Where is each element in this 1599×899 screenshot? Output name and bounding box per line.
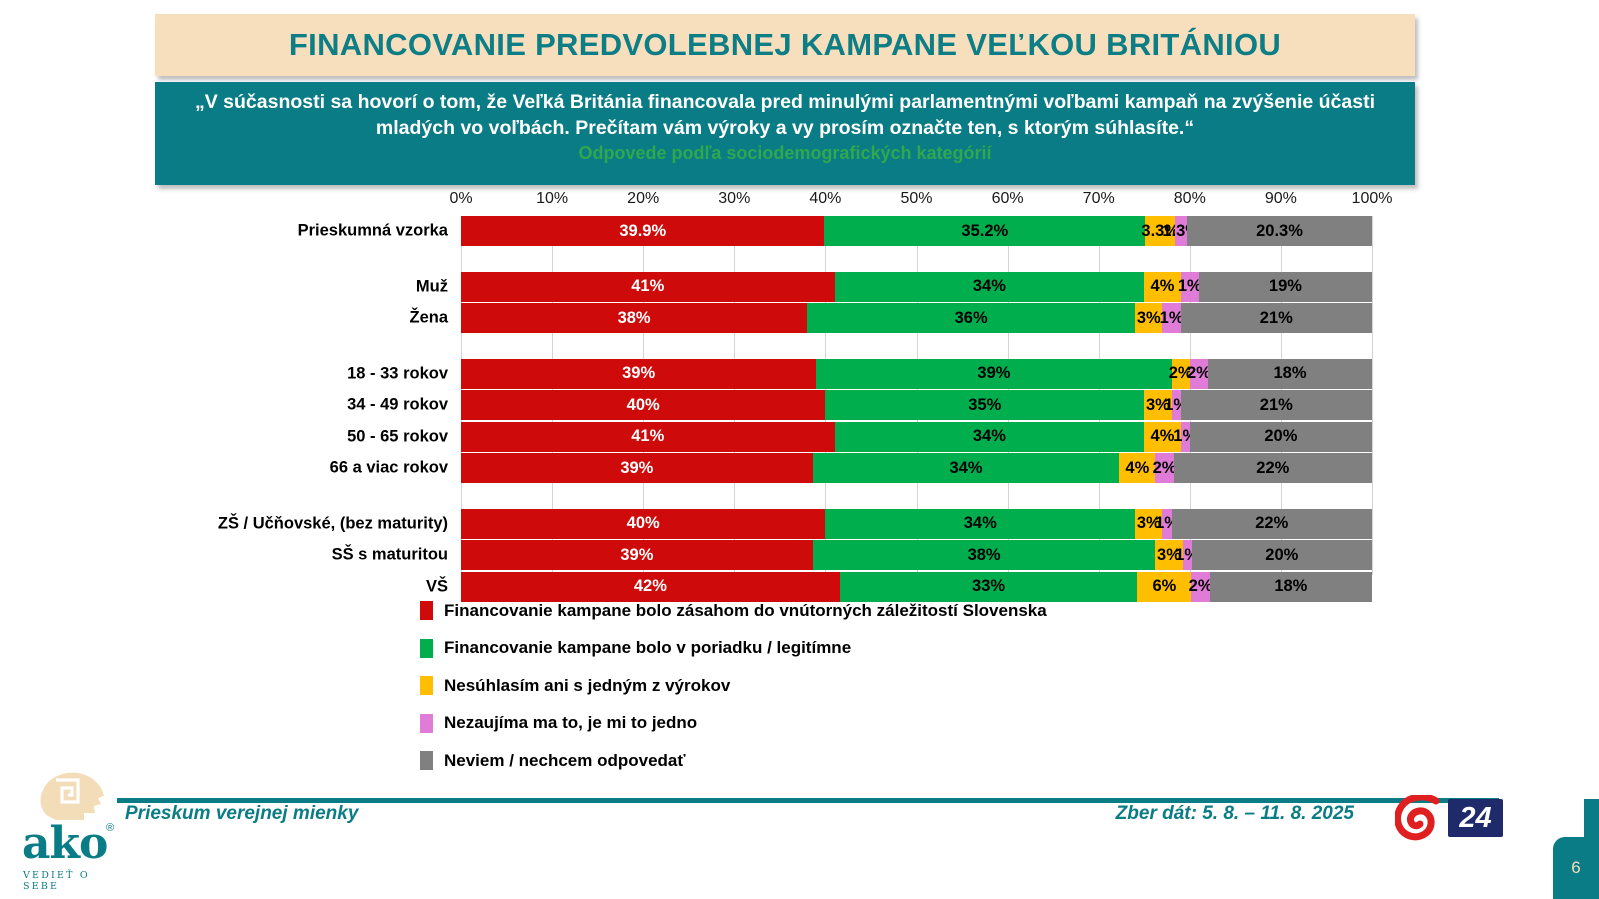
x-axis-tick-5: 50% — [900, 190, 932, 208]
registered-icon: ® — [106, 822, 114, 834]
footer-right-text: Zber dát: 5. 8. – 11. 8. 2025 — [1116, 803, 1354, 825]
bar-segment[interactable]: 1% — [1162, 303, 1180, 333]
legend-label: Nesúhlasím ani s jedným z výrokov — [444, 676, 730, 696]
legend-item[interactable]: Nezaujíma ma to, je mi to jedno — [420, 705, 1400, 743]
bar-segment-label: 20% — [1264, 427, 1297, 446]
bar-track: 40%35%3%1%21% — [461, 390, 1372, 420]
bar-segment-label: 18% — [1273, 364, 1306, 383]
bar-segment[interactable]: 34% — [835, 272, 1145, 302]
bar-segment-label: 3% — [1137, 309, 1161, 328]
x-axis-tick-1: 10% — [536, 190, 568, 208]
bar-segment-label: 22% — [1256, 459, 1289, 478]
row-label: SŠ s maturitou — [332, 546, 460, 565]
bar-segment[interactable]: 38% — [813, 540, 1156, 570]
bar-segment[interactable]: 40% — [461, 509, 825, 539]
chart-row: Muž41%34%4%1%19% — [0, 272, 1599, 302]
row-label: Prieskumná vzorka — [298, 222, 460, 241]
bar-segment[interactable]: 34% — [813, 453, 1120, 483]
tv24-number: 24 — [1448, 799, 1503, 837]
bar-segment-label: 4% — [1151, 277, 1175, 296]
bar-segment-label: 39% — [620, 459, 653, 478]
bar-segment[interactable]: 22% — [1174, 453, 1372, 483]
bar-segment[interactable]: 39% — [461, 359, 816, 389]
slide-root: FINANCOVANIE PREDVOLEBNEJ KAMPANE VEĽKOU… — [0, 0, 1599, 899]
chart-row: Prieskumná vzorka39.9%35.2%3.3%1.3%20.3% — [0, 216, 1599, 246]
bar-segment[interactable]: 2% — [1155, 453, 1173, 483]
bar-segment-label: 35% — [968, 396, 1001, 415]
row-label: Muž — [416, 277, 460, 296]
chart-row: SŠ s maturitou39%38%3%1%20% — [0, 540, 1599, 570]
bar-segment[interactable]: 36% — [807, 303, 1135, 333]
x-axis-tick-8: 80% — [1174, 190, 1206, 208]
bar-track: 39%39%2%2%18% — [461, 359, 1372, 389]
x-axis-ticks: 0%10%20%30%40%50%60%70%80%90%100% — [0, 190, 1599, 216]
bar-segment-label: 38% — [968, 546, 1001, 565]
ako-tagline: VEDIEŤ O SEBE — [23, 870, 128, 892]
bar-segment[interactable]: 1% — [1181, 272, 1199, 302]
bar-segment-label: 34% — [949, 459, 982, 478]
bar-segment-label: 38% — [618, 309, 651, 328]
question-text: „V súčasnosti sa hovorí o tom, že Veľká … — [179, 90, 1391, 142]
bar-segment[interactable]: 20.3% — [1187, 216, 1372, 246]
bar-segment[interactable]: 3% — [1135, 303, 1162, 333]
bar-segment-label: 40% — [627, 514, 660, 533]
chart-row: ZŠ / Učňovské, (bez maturity)40%34%3%1%2… — [0, 509, 1599, 539]
row-label: ZŠ / Učňovské, (bez maturity) — [218, 514, 460, 533]
bar-segment-label: 39% — [622, 364, 655, 383]
bar-segment[interactable]: 39.9% — [461, 216, 824, 246]
bar-segment-label: 39.9% — [619, 222, 666, 241]
bar-segment[interactable]: 39% — [461, 540, 813, 570]
legend-item[interactable]: Financovanie kampane bolo v poriadku / l… — [420, 630, 1400, 668]
bar-segment[interactable]: 39% — [816, 359, 1171, 389]
x-axis-tick-6: 60% — [992, 190, 1024, 208]
bar-segment-label: 34% — [973, 277, 1006, 296]
chart-plot-area: Prieskumná vzorka39.9%35.2%3.3%1.3%20.3%… — [0, 216, 1599, 575]
bar-segment[interactable]: 41% — [461, 422, 835, 452]
row-label: 34 - 49 rokov — [347, 396, 460, 415]
bar-segment[interactable]: 4% — [1119, 453, 1155, 483]
bar-segment[interactable]: 1% — [1172, 390, 1181, 420]
ako-logo: ako ® VEDIEŤ O SEBE — [18, 766, 128, 886]
legend-item[interactable]: Financovanie kampane bolo zásahom do vnú… — [420, 592, 1400, 630]
legend-item[interactable]: Nesúhlasím ani s jedným z výrokov — [420, 667, 1400, 705]
bar-segment-label: 4% — [1125, 459, 1149, 478]
bar-segment-label: 20% — [1265, 546, 1298, 565]
bar-segment-label: 36% — [955, 309, 988, 328]
legend-label: Financovanie kampane bolo zásahom do vnú… — [444, 601, 1047, 621]
legend-label: Nezaujíma ma to, je mi to jedno — [444, 713, 697, 733]
tv24-logo: 24 — [1395, 795, 1505, 841]
legend-swatch-icon — [420, 751, 433, 770]
bar-segment-label: 39% — [620, 546, 653, 565]
bar-segment[interactable]: 40% — [461, 390, 825, 420]
bar-track: 41%34%4%1%20% — [461, 422, 1372, 452]
row-label: Žena — [409, 309, 460, 328]
bar-segment-label: 39% — [977, 364, 1010, 383]
stacked-bar-chart: 0%10%20%30%40%50%60%70%80%90%100% Priesk… — [0, 190, 1599, 575]
row-label: 66 a viac rokov — [330, 459, 460, 478]
bar-track: 40%34%3%1%22% — [461, 509, 1372, 539]
bar-segment[interactable]: 4% — [1144, 272, 1180, 302]
bar-segment-label: 19% — [1269, 277, 1302, 296]
x-axis-tick-0: 0% — [449, 190, 472, 208]
ako-wordmark: ako — [22, 818, 107, 869]
bar-segment-label: 21% — [1260, 396, 1293, 415]
bar-segment[interactable]: 2% — [1190, 359, 1208, 389]
bar-segment-label: 41% — [631, 277, 664, 296]
bar-segment[interactable]: 20% — [1190, 422, 1372, 452]
bar-track: 39%34%4%2%22% — [461, 453, 1372, 483]
legend-swatch-icon — [420, 601, 433, 620]
bar-segment[interactable]: 22% — [1172, 509, 1372, 539]
bar-segment-label: 22% — [1255, 514, 1288, 533]
legend-swatch-icon — [420, 714, 433, 733]
bar-segment-label: 34% — [964, 514, 997, 533]
chart-legend: Financovanie kampane bolo zásahom do vnú… — [420, 592, 1400, 780]
slide-title-bar: FINANCOVANIE PREDVOLEBNEJ KAMPANE VEĽKOU… — [155, 14, 1415, 76]
page-badge-strip — [1584, 799, 1599, 837]
bar-segment[interactable]: 1.3% — [1175, 216, 1187, 246]
bar-segment[interactable]: 20% — [1192, 540, 1372, 570]
bar-segment[interactable]: 1% — [1183, 540, 1192, 570]
bar-segment[interactable]: 18% — [1208, 359, 1372, 389]
legend-swatch-icon — [420, 639, 433, 658]
legend-swatch-icon — [420, 676, 433, 695]
bar-segment[interactable]: 1% — [1162, 509, 1171, 539]
head-spiral-icon — [18, 766, 128, 826]
row-label: 18 - 33 rokov — [347, 364, 460, 383]
chart-row: 50 - 65 rokov41%34%4%1%20% — [0, 422, 1599, 452]
x-axis-tick-7: 70% — [1083, 190, 1115, 208]
row-label: 50 - 65 rokov — [347, 427, 460, 446]
x-axis-tick-2: 20% — [627, 190, 659, 208]
legend-label: Financovanie kampane bolo v poriadku / l… — [444, 638, 851, 658]
bar-segment[interactable]: 38% — [461, 303, 807, 333]
bar-track: 39%38%3%1%20% — [461, 540, 1372, 570]
bar-segment[interactable]: 34% — [835, 422, 1145, 452]
bar-track: 41%34%4%1%19% — [461, 272, 1372, 302]
bar-track: 38%36%3%1%21% — [461, 303, 1372, 333]
chart-row: Žena38%36%3%1%21% — [0, 303, 1599, 333]
chart-row: 66 a viac rokov39%34%4%2%22% — [0, 453, 1599, 483]
bar-segment[interactable]: 41% — [461, 272, 835, 302]
bar-segment-label: 41% — [631, 427, 664, 446]
x-axis-tick-9: 90% — [1265, 190, 1297, 208]
bar-segment-label: 40% — [627, 396, 660, 415]
legend-item[interactable]: Neviem / nechcem odpovedať — [420, 742, 1400, 780]
page-title: FINANCOVANIE PREDVOLEBNEJ KAMPANE VEĽKOU… — [289, 27, 1281, 63]
bar-segment[interactable]: 35.2% — [824, 216, 1145, 246]
bar-track: 39.9%35.2%3.3%1.3%20.3% — [461, 216, 1372, 246]
bar-segment[interactable]: 21% — [1181, 390, 1372, 420]
bar-segment[interactable]: 19% — [1199, 272, 1372, 302]
x-axis-tick-10: 100% — [1352, 190, 1393, 208]
spiral-icon — [1395, 795, 1445, 841]
bar-segment[interactable]: 39% — [461, 453, 813, 483]
bar-segment-label: 21% — [1260, 309, 1293, 328]
bar-segment[interactable]: 21% — [1181, 303, 1372, 333]
x-axis-tick-3: 30% — [718, 190, 750, 208]
bar-segment[interactable]: 35% — [825, 390, 1144, 420]
chart-row: 34 - 49 rokov40%35%3%1%21% — [0, 390, 1599, 420]
footer-left-text: Prieskum verejnej mienky — [125, 803, 358, 825]
chart-row: 18 - 33 rokov39%39%2%2%18% — [0, 359, 1599, 389]
bar-segment-label: 4% — [1151, 427, 1175, 446]
bar-segment-label: 20.3% — [1256, 222, 1303, 241]
question-band: „V súčasnosti sa hovorí o tom, že Veľká … — [155, 82, 1415, 185]
legend-label: Neviem / nechcem odpovedať — [444, 751, 686, 771]
question-subtitle: Odpovede podľa sociodemografických kateg… — [179, 143, 1391, 164]
page-number-badge: 6 — [1553, 837, 1599, 899]
bar-segment-label: 34% — [973, 427, 1006, 446]
bar-segment[interactable]: 34% — [825, 509, 1135, 539]
bar-segment-label: 35.2% — [961, 222, 1008, 241]
bar-segment[interactable]: 1% — [1181, 422, 1190, 452]
x-axis-tick-4: 40% — [809, 190, 841, 208]
